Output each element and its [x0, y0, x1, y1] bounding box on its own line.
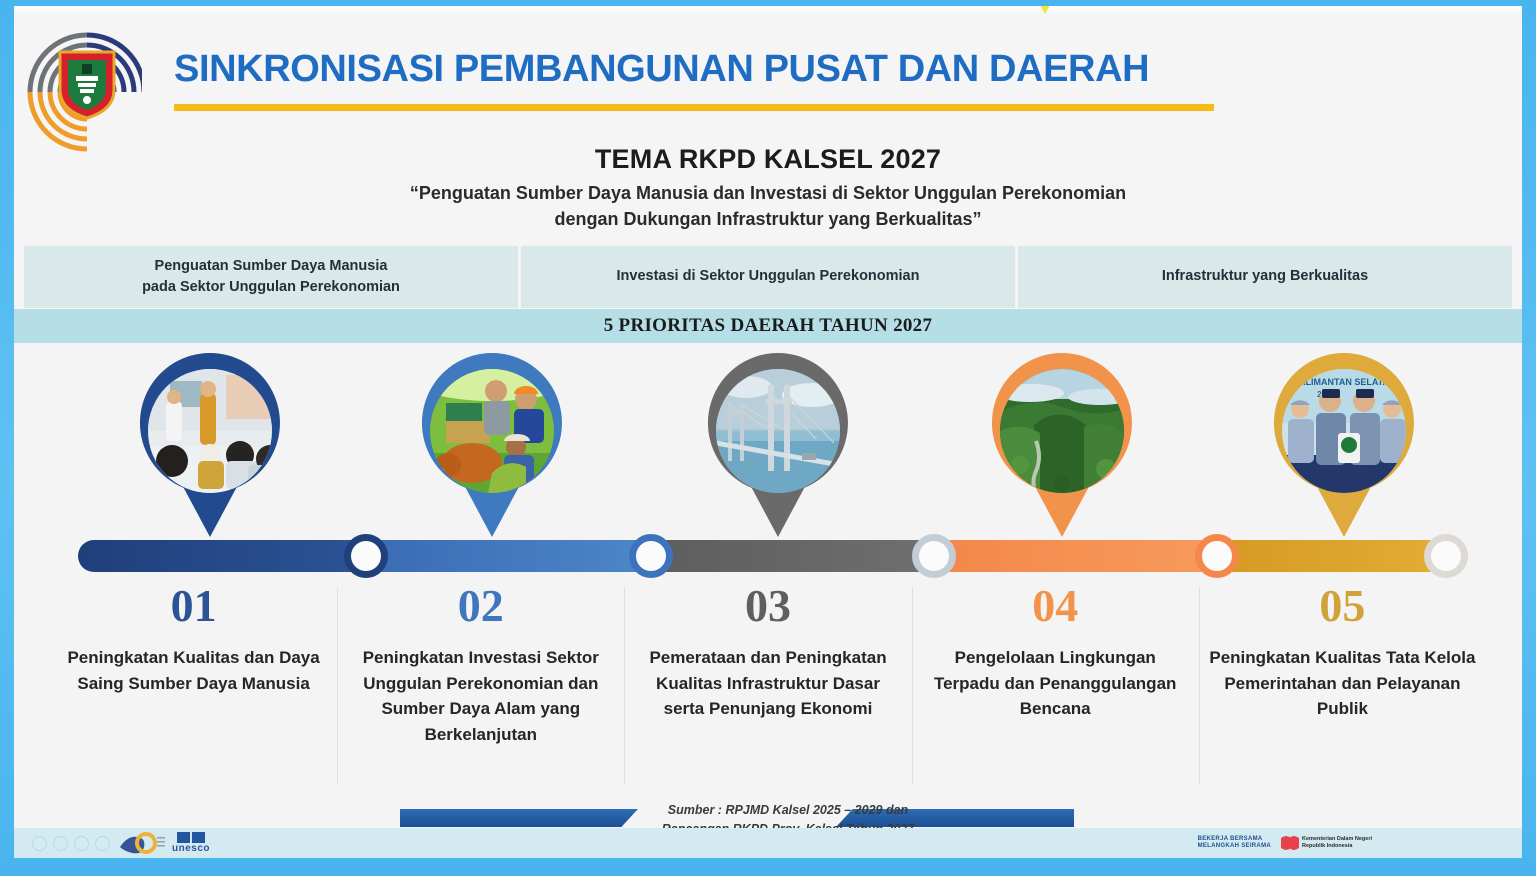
priority-strip: 5 PRIORITAS DAERAH TAHUN 2027	[14, 309, 1522, 343]
priority-number-4: 04	[922, 583, 1189, 629]
pillar-1-line2: pada Sektor Unggulan Perekonomian	[142, 277, 400, 298]
priority-number-1: 01	[60, 583, 327, 629]
priority-column-2: 02 Peningkatan Investasi Sektor Unggulan…	[337, 583, 624, 793]
pillar-band: Penguatan Sumber Daya Manusia pada Sekto…	[14, 246, 1522, 308]
bersama-logo: BEKERJA BERSAMA MELANGKAH SEIRAMA	[1198, 836, 1271, 850]
rail-segment-1	[78, 540, 366, 572]
government-ceremony-photo: KALIMANTAN SELATAN 2025	[1282, 369, 1406, 493]
unesco-mark-icon	[177, 832, 205, 843]
rail-node-3[interactable]	[912, 534, 956, 578]
priority-columns: 01 Peningkatan Kualitas dan Daya Saing S…	[14, 583, 1522, 793]
footer-ribbon-left	[400, 809, 638, 827]
source-line-1: Sumber : RPJMD Kalsel 2025 – 2029 dan	[638, 801, 938, 820]
priority-pin-5[interactable]: KALIMANTAN SELATAN 2025	[1264, 351, 1424, 541]
ghost-circle-icon-3	[74, 836, 89, 851]
slide-canvas: SINKRONISASI PEMBANGUNAN PUSAT DAN DAERA…	[14, 6, 1522, 858]
rail-node-2[interactable]	[629, 534, 673, 578]
ghost-circle-icon-2	[53, 836, 68, 851]
pin-row: KALIMANTAN SELATAN 2025	[14, 343, 1522, 533]
rail-segment-4	[934, 540, 1217, 572]
tema-subtitle-line2: dengan Dukungan Infrastruktur yang Berku…	[14, 209, 1522, 230]
pillar-card-2: Investasi di Sektor Unggulan Perekonomia…	[521, 246, 1015, 308]
priority-number-2: 02	[347, 583, 614, 629]
rail-node-4[interactable]	[1195, 534, 1239, 578]
pillar-card-3: Infrastruktur yang Berkualitas	[1018, 246, 1512, 308]
priority-strip-label: 5 PRIORITAS DAERAH TAHUN 2027	[604, 315, 933, 337]
rail-node-1[interactable]	[344, 534, 388, 578]
kalsel-provincial-emblem-logo	[16, 18, 142, 158]
bersama-line-2: MELANGKAH SEIRAMA	[1198, 843, 1271, 850]
kemendagri-line-1: Kementerian Dalam Negeri	[1302, 836, 1372, 843]
priority-column-1: 01 Peningkatan Kualitas dan Daya Saing S…	[50, 583, 337, 793]
rail-segment-2	[366, 540, 651, 572]
pillar-card-1: Penguatan Sumber Daya Manusia pada Sekto…	[24, 246, 518, 308]
priority-pin-3[interactable]	[698, 351, 858, 541]
timeline-rail	[78, 540, 1468, 572]
priority-column-3: 03 Pemerataan dan Peningkatan Kualitas I…	[624, 583, 911, 793]
top-white-band	[14, 6, 1522, 18]
priority-column-5: 05 Peningkatan Kualitas Tata Kelola Peme…	[1199, 583, 1486, 793]
priority-number-3: 03	[634, 583, 901, 629]
priority-description-1: Peningkatan Kualitas dan Daya Saing Sumb…	[60, 645, 327, 696]
pillar-1-line1: Penguatan Sumber Daya Manusia	[142, 256, 400, 277]
agriculture-farmers-photo	[430, 369, 554, 493]
training-classroom-photo	[148, 369, 272, 493]
anniversary-80-logo-icon	[116, 831, 166, 855]
kemendagri-logo: Kementerian Dalam Negeri Republik Indone…	[1281, 836, 1372, 850]
priority-number-5: 05	[1209, 583, 1476, 629]
forest-mountain-photo	[1000, 369, 1124, 493]
ghost-circle-icon-1	[32, 836, 47, 851]
unesco-logo: unesco	[172, 832, 210, 854]
pillar-2-line1: Investasi di Sektor Unggulan Perekonomia…	[617, 266, 920, 287]
ghost-circle-icon-4	[95, 836, 110, 851]
suspension-bridge-photo	[716, 369, 840, 493]
title-wrap: SINKRONISASI PEMBANGUNAN PUSAT DAN DAERA…	[174, 50, 1224, 111]
page-title: SINKRONISASI PEMBANGUNAN PUSAT DAN DAERA…	[174, 50, 1224, 90]
tema-subtitle-line1: “Penguatan Sumber Daya Manusia dan Inves…	[14, 183, 1522, 204]
tema-title: TEMA RKPD KALSEL 2027	[14, 144, 1522, 175]
priority-pin-2[interactable]	[412, 351, 572, 541]
kemendagri-mark-icon	[1281, 836, 1299, 850]
priority-column-4: 04 Pengelolaan Lingkungan Terpadu dan Pe…	[912, 583, 1199, 793]
slide-frame: SINKRONISASI PEMBANGUNAN PUSAT DAN DAERA…	[0, 0, 1536, 876]
bersama-line-1: BEKERJA BERSAMA	[1198, 836, 1271, 843]
shield-emblem-icon	[56, 46, 118, 120]
rail-segment-3	[651, 540, 934, 572]
pillar-3-line1: Infrastruktur yang Berkualitas	[1162, 266, 1368, 287]
priority-description-4: Pengelolaan Lingkungan Terpadu dan Penan…	[922, 645, 1189, 722]
kemendagri-line-2: Republik Indonesia	[1302, 843, 1372, 850]
slide-header: SINKRONISASI PEMBANGUNAN PUSAT DAN DAERA…	[14, 18, 1522, 244]
kemendagri-text: Kementerian Dalam Negeri Republik Indone…	[1302, 836, 1372, 850]
title-underline	[174, 104, 1214, 111]
priority-description-5: Peningkatan Kualitas Tata Kelola Pemerin…	[1209, 645, 1476, 722]
priority-pin-4[interactable]	[982, 351, 1142, 541]
slide-footer: Sumber : RPJMD Kalsel 2025 – 2029 dan Ra…	[14, 797, 1522, 858]
rail-node-5[interactable]	[1424, 534, 1468, 578]
footer-logos-left: unesco	[32, 829, 210, 857]
timeline-body: KALIMANTAN SELATAN 2025	[14, 343, 1522, 803]
priority-description-2: Peningkatan Investasi Sektor Unggulan Pe…	[347, 645, 614, 747]
priority-pin-1[interactable]	[130, 351, 290, 541]
priority-description-3: Pemerataan dan Peningkatan Kualitas Infr…	[634, 645, 901, 722]
unesco-label: unesco	[172, 843, 210, 854]
footer-logos-right: BEKERJA BERSAMA MELANGKAH SEIRAMA Kement…	[1198, 830, 1372, 856]
